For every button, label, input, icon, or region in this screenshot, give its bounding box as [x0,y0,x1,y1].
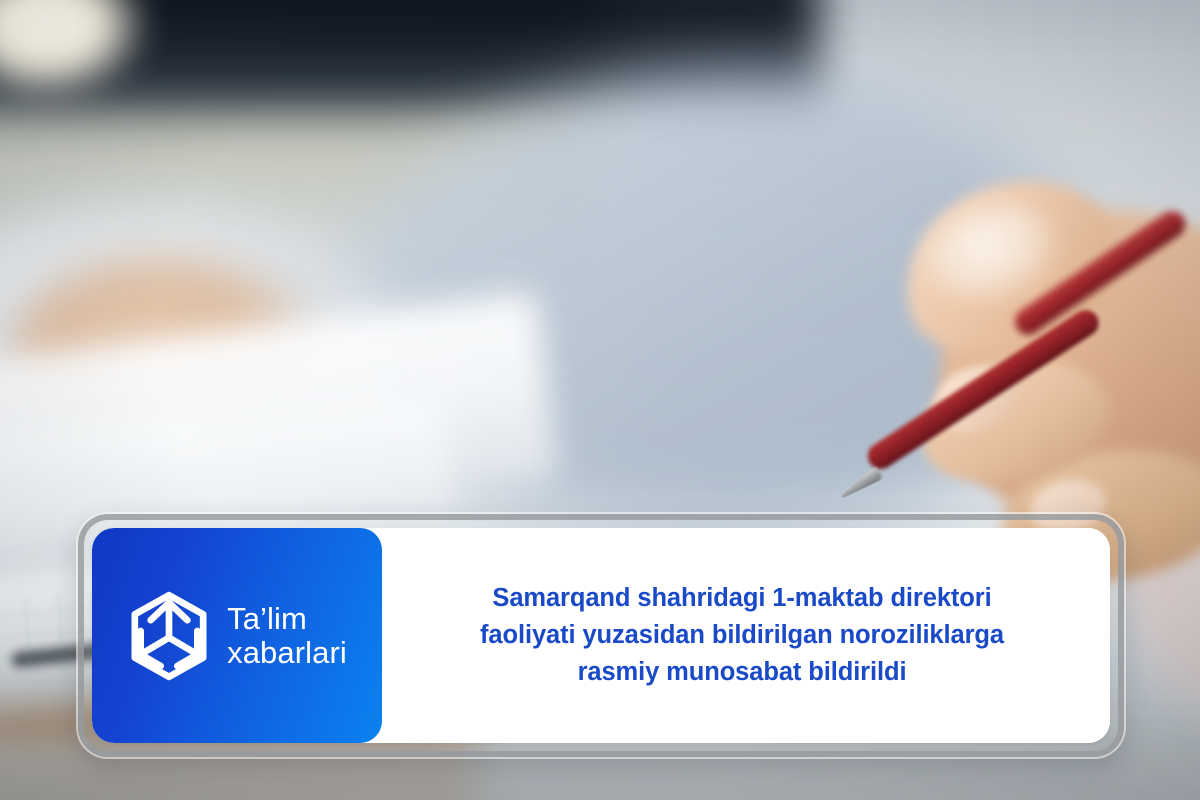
brand-name: Ta’lim xabarlari [227,602,347,669]
brand-line-1: Ta’lim [227,602,347,635]
highlight-glow [0,0,150,100]
brand-line-2: xabarlari [227,636,347,669]
headline-line-1: Samarqand shahridagi 1-maktab direktori [492,580,991,617]
news-banner: Ta’lim xabarlari Samarqand shahridagi 1-… [0,0,1200,800]
headline-block: Samarqand shahridagi 1-maktab direktori … [382,528,1110,743]
headline-line-3: rasmiy munosabat bildirildi [578,654,907,691]
headline-line-2: faoliyati yuzasidan bildirilgan norozili… [480,617,1004,654]
headline-card-frame: Ta’lim xabarlari Samarqand shahridagi 1-… [78,514,1124,757]
brand-block[interactable]: Ta’lim xabarlari [92,528,382,743]
cube-hexagon-arrows-icon [127,591,211,681]
headline-card: Ta’lim xabarlari Samarqand shahridagi 1-… [92,528,1110,743]
